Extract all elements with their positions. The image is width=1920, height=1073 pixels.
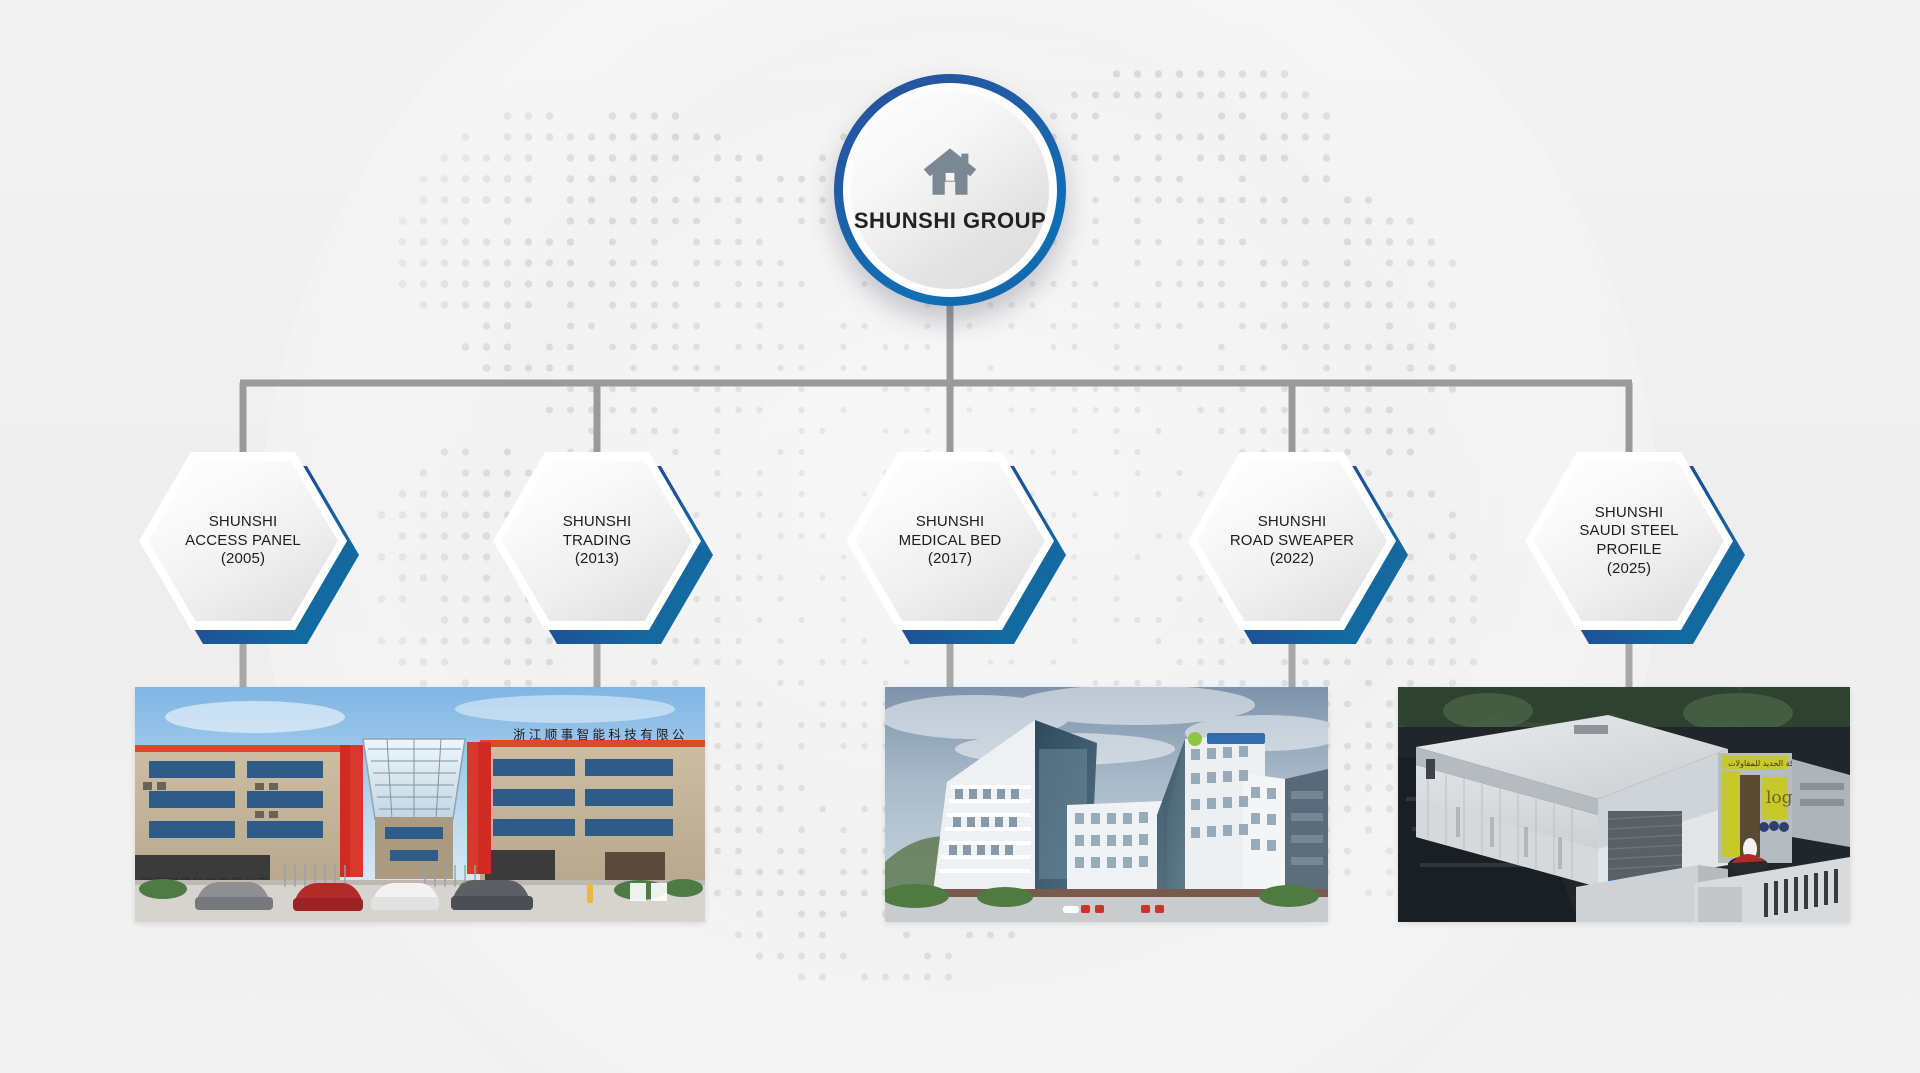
photo-office-towers [885, 687, 1328, 922]
photo-steel-warehouse: شركة الحديد للمقاولات logo [1398, 687, 1850, 922]
node-label: SHUNSHI SAUDI STEEL PROFILE (2025) [1554, 504, 1704, 579]
node-medical-bed[interactable]: SHUNSHI MEDICAL BED (2017) [846, 452, 1064, 642]
node-label: SHUNSHI MEDICAL BED (2017) [875, 513, 1025, 569]
node-road-sweeper[interactable]: SHUNSHI ROAD SWEAPER (2022) [1188, 452, 1406, 642]
diagram-canvas: 浙江顺事智能科技有限公 顺事智能科技有限公司 [0, 0, 1920, 1073]
photo-factory-campus: 浙江顺事智能科技有限公 顺事智能科技有限公司 [135, 687, 705, 922]
node-label: SHUNSHI ACCESS PANEL (2005) [168, 513, 318, 569]
node-access-panel[interactable]: SHUNSHI ACCESS PANEL (2005) [139, 452, 357, 642]
node-label: SHUNSHI TRADING (2013) [522, 513, 672, 569]
root-node-shunshi-group[interactable]: SHUNSHI GROUP [834, 74, 1066, 306]
root-label: SHUNSHI GROUP [854, 208, 1046, 235]
root-face: SHUNSHI GROUP [851, 91, 1049, 289]
node-saudi-steel-profile[interactable]: SHUNSHI SAUDI STEEL PROFILE (2025) [1525, 452, 1743, 642]
photo1-signage: 浙江顺事智能科技有限公 [513, 727, 688, 742]
node-trading[interactable]: SHUNSHI TRADING (2013) [493, 452, 711, 642]
node-label: SHUNSHI ROAD SWEAPER (2022) [1217, 513, 1367, 569]
home-icon [922, 146, 978, 198]
